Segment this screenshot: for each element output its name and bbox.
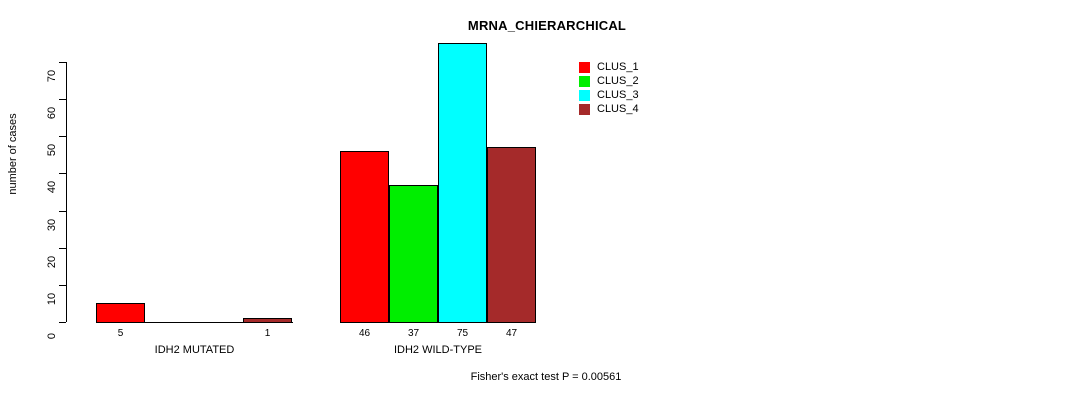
y-axis-tick [59, 248, 66, 249]
page-title: MRNA_CHIERARCHICAL [0, 18, 1090, 33]
y-axis-tick-label: 50 [46, 135, 58, 165]
y-axis-title: number of cases [7, 89, 19, 219]
legend-swatch-icon [579, 62, 590, 73]
y-axis-tick-label: 20 [46, 247, 58, 277]
chart-canvas: MRNA_CHIERARCHICAL number of cases 01020… [0, 0, 1090, 400]
legend-label: CLUS_1 [597, 62, 639, 73]
bar-value-label: 5 [96, 328, 145, 339]
y-axis-tick-label: 0 [46, 321, 58, 351]
legend-swatch-icon [579, 76, 590, 87]
chart-annotation: Fisher's exact test P = 0.00561 [0, 371, 1090, 383]
bar-value-label: 37 [389, 328, 438, 339]
y-axis-tick [59, 136, 66, 137]
bar-value-label: 1 [243, 328, 292, 339]
y-axis-tick [59, 62, 66, 63]
bar-clus_1-2 [340, 151, 389, 323]
bar-value-label: 47 [487, 328, 536, 339]
bar-value-label: 75 [438, 328, 487, 339]
legend-label: CLUS_4 [597, 104, 639, 115]
legend-label: CLUS_3 [597, 90, 639, 101]
y-axis-tick [59, 99, 66, 100]
y-axis-tick-label: 60 [46, 98, 58, 128]
group-axis-label: IDH2 MUTATED [75, 344, 315, 356]
fisher-test-text: Fisher's exact test P = 0.00561 [471, 371, 622, 383]
y-axis-line [66, 62, 67, 322]
y-axis-tick [59, 285, 66, 286]
bar-clus_4-1 [243, 318, 292, 323]
legend-item-clus_3[interactable]: CLUS_3 [579, 88, 639, 102]
bar-clus_4-2 [487, 147, 536, 323]
legend-item-clus_2[interactable]: CLUS_2 [579, 74, 639, 88]
chart-title-text: MRNA_CHIERARCHICAL [468, 18, 626, 33]
y-axis-tick [59, 211, 66, 212]
y-axis-tick-label: 10 [46, 284, 58, 314]
y-axis-tick-label: 70 [46, 61, 58, 91]
bar-clus_1-1 [96, 303, 145, 323]
bar-value-label: 46 [340, 328, 389, 339]
bar-clus_3-2 [438, 43, 487, 323]
group-axis-label: IDH2 WILD-TYPE [318, 344, 558, 356]
y-axis-tick [59, 322, 66, 323]
y-axis-tick-label: 30 [46, 210, 58, 240]
bar-clus_2-2 [389, 185, 438, 323]
legend-item-clus_1[interactable]: CLUS_1 [579, 60, 639, 74]
legend-swatch-icon [579, 104, 590, 115]
y-axis-tick [59, 173, 66, 174]
legend-swatch-icon [579, 90, 590, 101]
y-axis-tick-label: 40 [46, 172, 58, 202]
legend-label: CLUS_2 [597, 76, 639, 87]
legend: CLUS_1CLUS_2CLUS_3CLUS_4 [579, 60, 639, 116]
legend-item-clus_4[interactable]: CLUS_4 [579, 102, 639, 116]
